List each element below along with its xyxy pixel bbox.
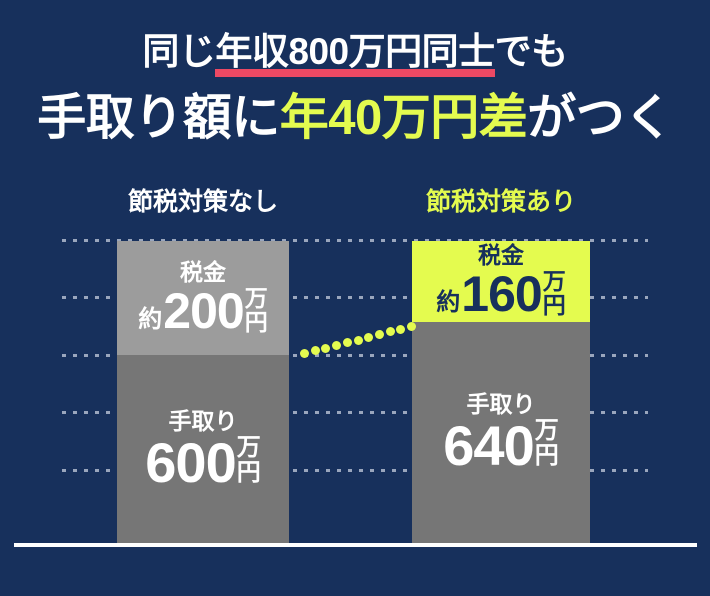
chart-baseline — [14, 543, 697, 547]
bar-0-tax-unit-en: 円 — [245, 310, 268, 334]
bar-1-takehome-unit: 万 円 — [535, 418, 559, 468]
bar-1-tax-number: 160 — [461, 269, 541, 319]
bar-0-takehome-segment: 手取り 600 万 円 — [117, 355, 289, 545]
bar-0-tax-number: 200 — [163, 286, 243, 336]
connector-dot — [343, 338, 352, 347]
bar-0-takehome-unit-man: 万 — [237, 435, 261, 460]
bar-1-tax-segment: 税金 約 160 万 円 — [412, 241, 590, 322]
stacked-bar-chart: 節税対策なし 節税対策あり 税金 約 200 万 円 手取り 600 — [0, 0, 710, 596]
bar-0-tax-unit-man: 万 — [245, 286, 268, 310]
bar-0-takehome-unit: 万 円 — [237, 435, 261, 485]
bar-0-takehome-unit-en: 円 — [237, 460, 261, 485]
column-label-with-tax-saving: 節税対策あり — [381, 190, 621, 215]
tax-reduction-connector-icon — [289, 310, 415, 360]
bar-1-takehome-number: 640 — [443, 418, 533, 474]
connector-dot — [364, 333, 373, 342]
bar-1-takehome-unit-man: 万 — [535, 418, 559, 443]
bar-1-tax-unit-en: 円 — [543, 293, 566, 317]
bar-0-tax-amount: 約 200 万 円 — [138, 286, 267, 336]
bar-without-tax-saving: 税金 約 200 万 円 手取り 600 万 円 — [117, 241, 289, 545]
bar-0-tax-caption: 税金 — [180, 261, 226, 284]
bar-1-tax-prefix: 約 — [436, 291, 460, 315]
bar-0-tax-prefix: 約 — [138, 308, 162, 332]
bar-with-tax-saving: 税金 約 160 万 円 手取り 640 万 円 — [412, 241, 590, 545]
bar-1-takehome-segment: 手取り 640 万 円 — [412, 322, 590, 545]
bar-1-tax-unit-man: 万 — [543, 269, 566, 293]
connector-dot — [332, 341, 341, 350]
connector-dot — [375, 330, 384, 339]
bar-0-tax-segment: 税金 約 200 万 円 — [117, 241, 289, 355]
bar-1-takehome-amount: 640 万 円 — [443, 418, 558, 474]
bar-1-tax-amount: 約 160 万 円 — [436, 269, 565, 319]
bar-1-takehome-unit-en: 円 — [535, 443, 559, 468]
infographic-canvas: 同じ年収800万円同士でも 手取り額に年40万円差がつく 節税対策なし 節税対策… — [0, 0, 710, 596]
bar-1-tax-caption: 税金 — [478, 244, 524, 267]
bar-0-takehome-amount: 600 万 円 — [145, 435, 260, 491]
bar-0-takehome-caption: 手取り — [169, 410, 238, 433]
column-label-without-tax-saving: 節税対策なし — [83, 190, 323, 215]
connector-dot — [396, 325, 405, 334]
bar-1-tax-unit: 万 円 — [543, 269, 566, 317]
connector-dot — [407, 322, 416, 331]
connector-dot — [300, 349, 309, 358]
connector-dot — [386, 327, 395, 336]
connector-dot — [311, 346, 320, 355]
bar-0-tax-unit: 万 円 — [245, 286, 268, 334]
connector-dot — [321, 344, 330, 353]
bar-1-takehome-caption: 手取り — [467, 393, 536, 416]
bar-0-takehome-number: 600 — [145, 435, 235, 491]
connector-dot — [354, 336, 363, 345]
